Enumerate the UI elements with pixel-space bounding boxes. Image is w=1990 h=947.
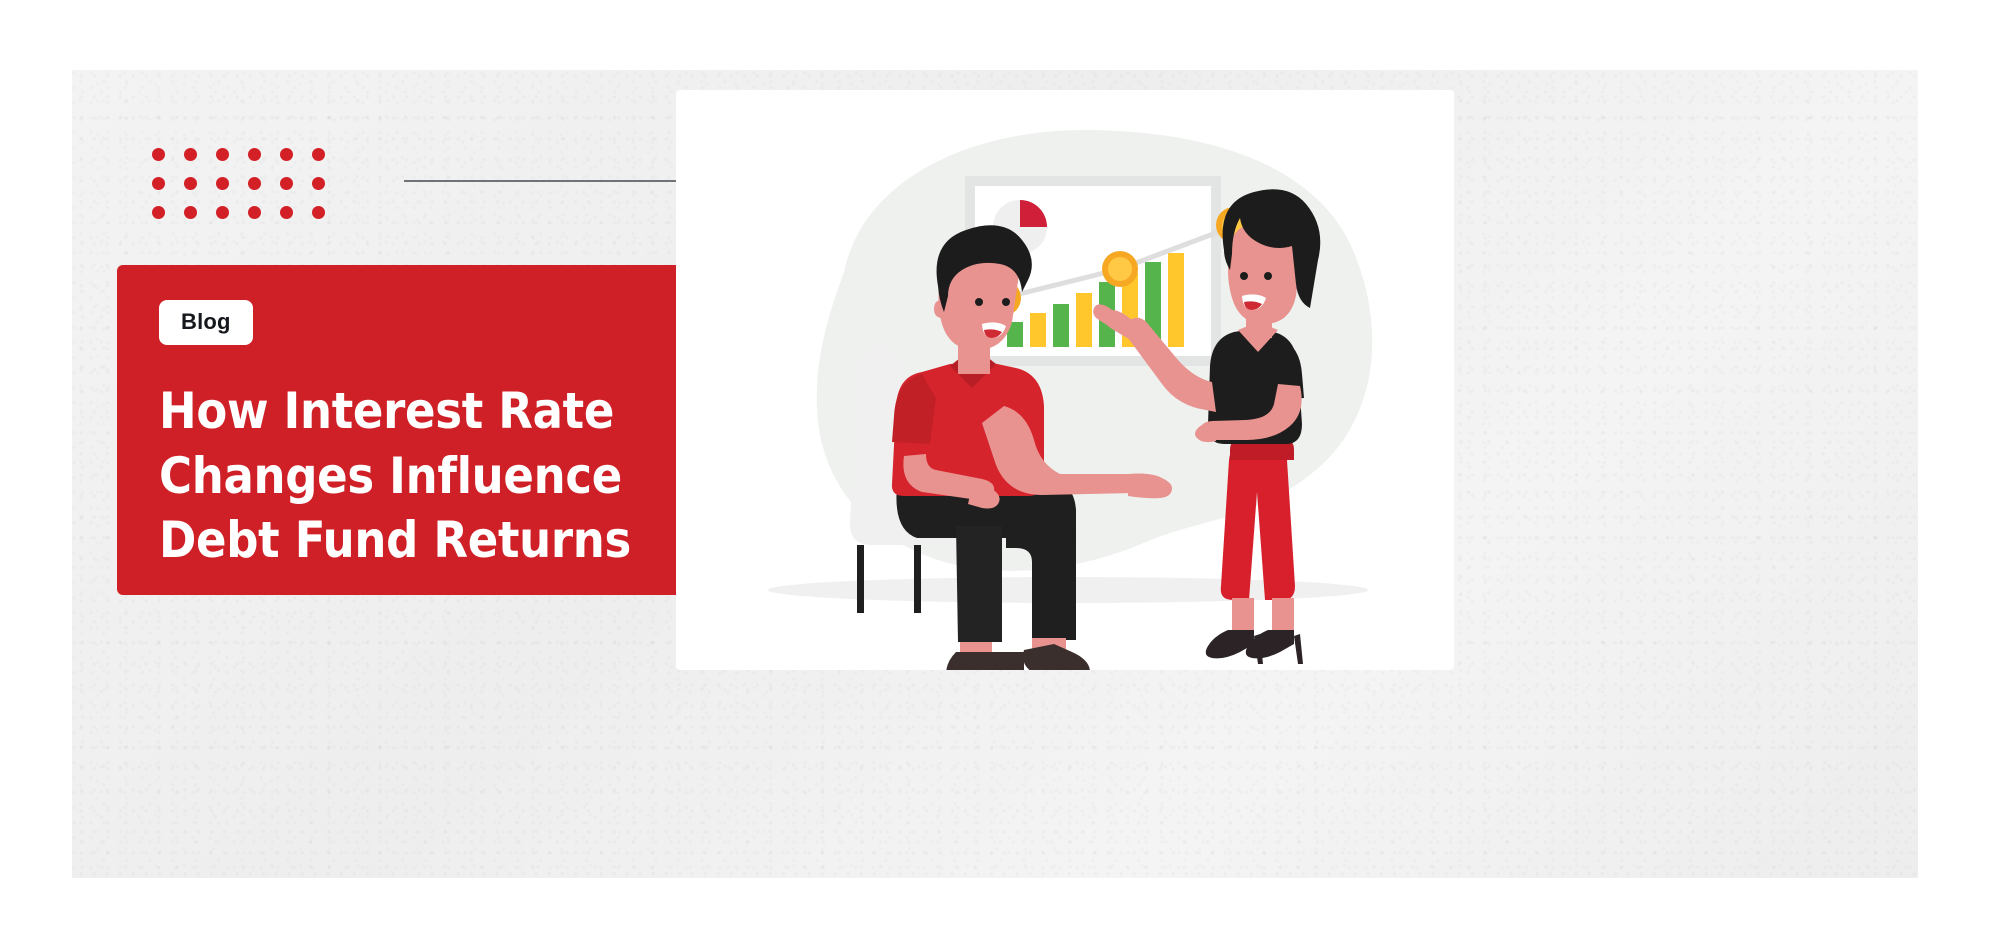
page-title: How Interest Rate Changes Influence Debt… xyxy=(159,379,737,573)
dot xyxy=(184,177,197,190)
title-line-1: How Interest Rate xyxy=(159,379,737,444)
dot xyxy=(216,177,229,190)
eye xyxy=(1240,272,1248,280)
dot xyxy=(248,148,261,161)
chair-leg-left xyxy=(857,545,864,613)
trouser-lower-leg-back xyxy=(956,526,1002,642)
dot xyxy=(248,177,261,190)
title-line-2: Changes Influence xyxy=(159,444,737,509)
pants xyxy=(1221,444,1295,600)
illustration-card xyxy=(676,90,1454,670)
eye xyxy=(1264,272,1272,280)
title-line-3: Debt Fund Returns xyxy=(159,508,737,573)
bar-3 xyxy=(1053,304,1069,347)
dot xyxy=(248,206,261,219)
dot xyxy=(280,206,293,219)
heel-shoe-right xyxy=(1246,630,1303,664)
dot xyxy=(184,148,197,161)
dot xyxy=(312,148,325,161)
coin-marker-2 xyxy=(1102,251,1138,287)
dot xyxy=(312,206,325,219)
dot xyxy=(184,206,197,219)
dot xyxy=(152,177,165,190)
dot xyxy=(216,206,229,219)
dot xyxy=(312,177,325,190)
shoe-back xyxy=(946,652,1024,670)
blog-badge: Blog xyxy=(159,300,253,345)
eye xyxy=(1002,298,1010,306)
horizontal-rule-decoration xyxy=(404,180,676,182)
dot xyxy=(280,148,293,161)
bar-4 xyxy=(1076,293,1092,347)
bar-8 xyxy=(1168,253,1184,347)
dot-grid-decoration xyxy=(152,148,344,235)
dot xyxy=(152,206,165,219)
screenshot-root: Blog How Interest Rate Changes Influence… xyxy=(0,0,1990,947)
illustration-svg xyxy=(676,90,1454,670)
dot xyxy=(152,148,165,161)
bar-2 xyxy=(1030,313,1046,347)
chair-leg-right xyxy=(914,545,921,613)
dot xyxy=(280,177,293,190)
eye xyxy=(975,298,983,306)
dot xyxy=(216,148,229,161)
